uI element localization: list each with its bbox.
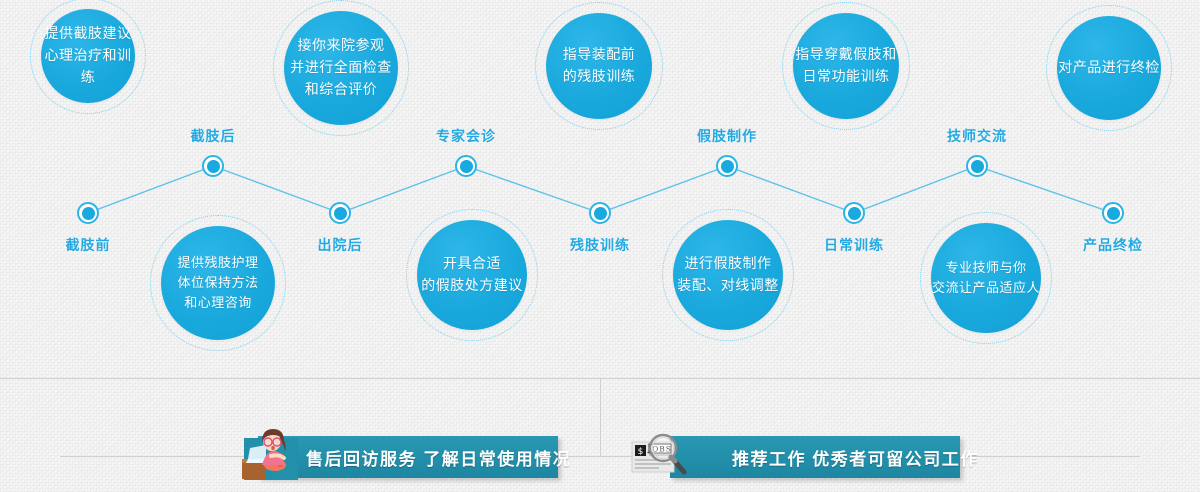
banner-job-referral-label: 推荐工作 优秀者可留公司工作	[732, 445, 979, 470]
timeline-node-stump-training[interactable]	[589, 202, 611, 224]
woman-at-desk-icon	[236, 418, 298, 480]
bubble-prosthesis-making[interactable]: 进行假肢制作 装配、对线调整	[673, 220, 783, 330]
banner-job-referral[interactable]: $ JOBS 推荐工作 优秀者可留公司工作	[670, 436, 960, 478]
timeline-node-post-amputation[interactable]	[202, 155, 224, 177]
timeline-label-expert-consult: 专家会诊	[436, 126, 496, 146]
timeline-node-daily-training[interactable]	[843, 202, 865, 224]
svg-text:$: $	[638, 447, 644, 457]
timeline-node-technician-contact[interactable]	[966, 155, 988, 177]
bubble-daily-training[interactable]: 指导穿戴假肢和 日常功能训练	[793, 13, 899, 119]
jobs-magnifier-icon: $ JOBS	[626, 422, 688, 484]
timeline-label-technician-contact: 技师交流	[947, 126, 1007, 146]
bubble-post-amputation[interactable]: 提供残肢护理 体位保持方法 和心理咨询	[161, 226, 275, 340]
bubble-stump-training[interactable]: 指导装配前 的残肢训练	[546, 13, 652, 119]
divider-vertical	[600, 378, 601, 456]
timeline-label-stump-training: 残肢训练	[570, 235, 630, 255]
timeline-label-final-inspection: 产品终检	[1083, 235, 1143, 255]
bubble-technician-contact[interactable]: 专业技师与你 交流让产品适应人	[931, 223, 1041, 333]
banner-aftersales-label: 售后回访服务 了解日常使用情况	[306, 445, 571, 470]
flowchart-stage: 提供截肢建议 心理治疗和训练提供残肢护理 体位保持方法 和心理咨询接你来院参观 …	[0, 0, 1200, 492]
timeline-label-post-amputation: 截肢后	[191, 126, 236, 146]
bubble-pre-amputation[interactable]: 提供截肢建议 心理治疗和训练	[41, 9, 135, 103]
bubble-expert-consult[interactable]: 开具合适 的假肢处方建议	[417, 220, 527, 330]
timeline-label-post-discharge: 出院后	[318, 235, 363, 255]
timeline-node-pre-amputation[interactable]	[77, 202, 99, 224]
timeline-label-pre-amputation: 截肢前	[66, 235, 111, 255]
timeline-node-prosthesis-making[interactable]	[716, 155, 738, 177]
timeline-node-post-discharge[interactable]	[329, 202, 351, 224]
bubble-post-discharge[interactable]: 接你来院参观 并进行全面检查 和综合评价	[284, 11, 398, 125]
timeline-node-expert-consult[interactable]	[455, 155, 477, 177]
bubble-final-inspection[interactable]: 对产品进行终检	[1057, 16, 1161, 120]
timeline-label-prosthesis-making: 假肢制作	[697, 126, 757, 146]
timeline-node-final-inspection[interactable]	[1102, 202, 1124, 224]
banner-aftersales[interactable]: 售后回访服务 了解日常使用情况	[258, 436, 558, 478]
timeline-label-daily-training: 日常训练	[824, 235, 884, 255]
